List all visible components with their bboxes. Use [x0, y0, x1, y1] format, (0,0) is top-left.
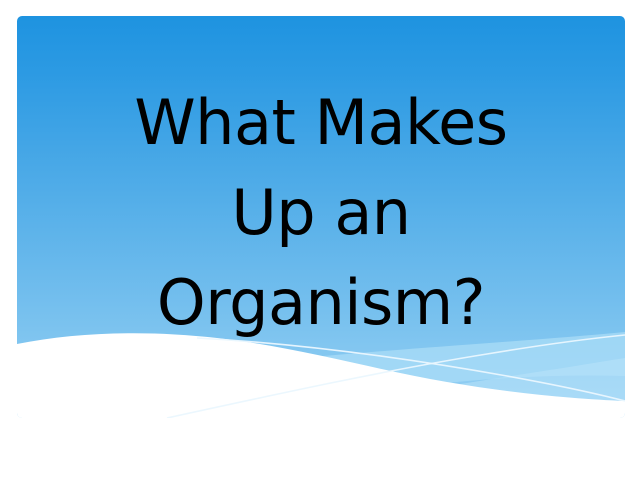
- slide-background-panel: [17, 16, 625, 418]
- wave-decoration-graphic: [17, 298, 625, 418]
- slide-canvas: What Makes Up an Organism?: [0, 0, 640, 480]
